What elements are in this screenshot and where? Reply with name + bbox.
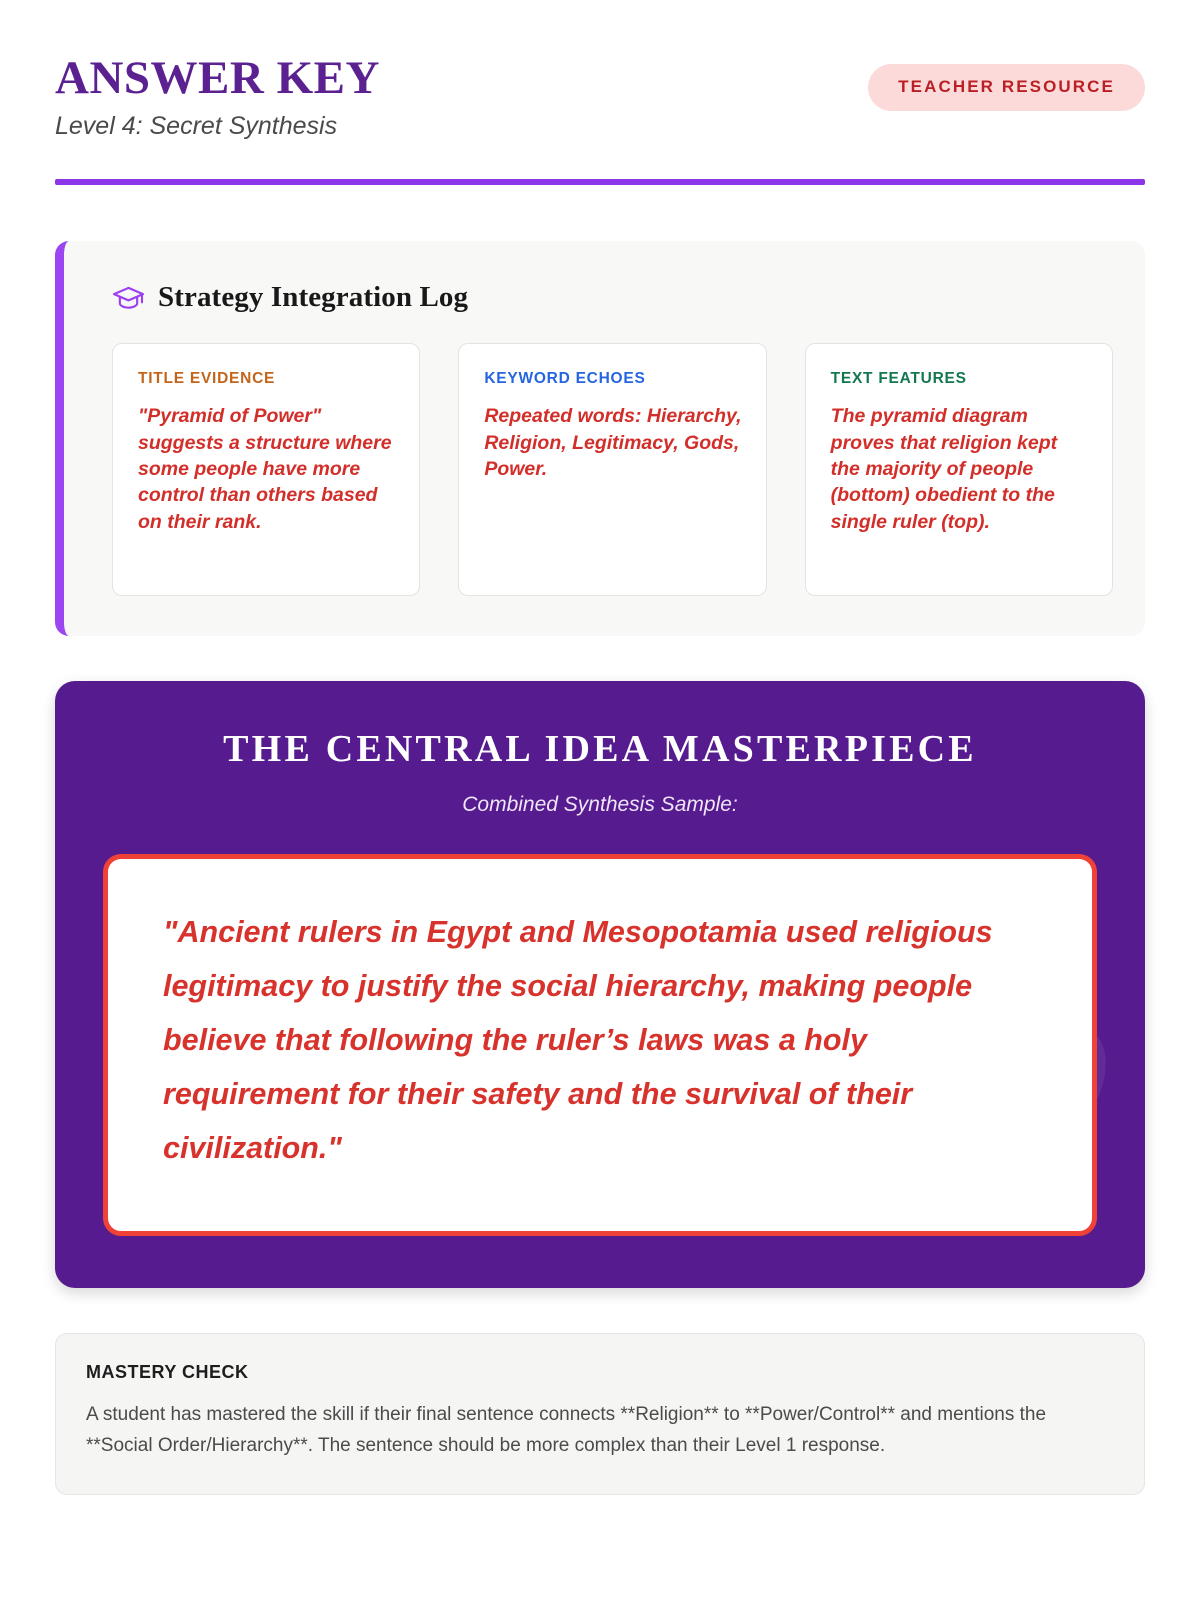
strategy-card: TEXT FEATURES The pyramid diagram proves…	[805, 343, 1113, 596]
header-divider	[55, 179, 1145, 185]
strategy-cards-grid: TITLE EVIDENCE "Pyramid of Power" sugges…	[112, 343, 1113, 596]
strategy-card-body: The pyramid diagram proves that religion…	[831, 403, 1090, 535]
strategy-card-body: Repeated words: Hierarchy, Religion, Leg…	[484, 403, 743, 482]
strategy-card: TITLE EVIDENCE "Pyramid of Power" sugges…	[112, 343, 420, 596]
strategy-card-body: "Pyramid of Power" suggests a structure …	[138, 403, 397, 535]
strategy-card-label: TITLE EVIDENCE	[138, 370, 397, 388]
mastery-check-body: A student has mastered the skill if thei…	[86, 1400, 1114, 1462]
synthesis-quote-text: "Ancient rulers in Egypt and Mesopotamia…	[163, 906, 1042, 1176]
mastery-check-title: MASTERY CHECK	[86, 1362, 1114, 1383]
teacher-resource-badge: TEACHER RESOURCE	[868, 64, 1145, 111]
strategy-panel-header: Strategy Integration Log	[112, 281, 1113, 314]
strategy-integration-log-panel: Strategy Integration Log TITLE EVIDENCE …	[55, 241, 1145, 636]
header-text-group: ANSWER KEY Level 4: Secret Synthesis	[55, 52, 380, 145]
masterpiece-title: THE CENTRAL IDEA MASTERPIECE	[103, 727, 1097, 771]
strategy-panel-title: Strategy Integration Log	[158, 281, 468, 314]
strategy-card-label: TEXT FEATURES	[831, 370, 1090, 388]
graduation-cap-icon	[112, 285, 145, 311]
central-idea-masterpiece-panel: ” THE CENTRAL IDEA MASTERPIECE Combined …	[55, 681, 1145, 1288]
masterpiece-subtitle: Combined Synthesis Sample:	[103, 793, 1097, 817]
strategy-card: KEYWORD ECHOES Repeated words: Hierarchy…	[458, 343, 766, 596]
strategy-card-label: KEYWORD ECHOES	[484, 370, 743, 388]
page-title: ANSWER KEY	[55, 54, 380, 104]
mastery-check-box: MASTERY CHECK A student has mastered the…	[55, 1333, 1145, 1495]
answer-key-page: ANSWER KEY Level 4: Secret Synthesis TEA…	[0, 0, 1200, 1600]
page-header: ANSWER KEY Level 4: Secret Synthesis TEA…	[55, 52, 1145, 145]
synthesis-quote-box: "Ancient rulers in Egypt and Mesopotamia…	[103, 854, 1097, 1236]
page-subtitle: Level 4: Secret Synthesis	[55, 108, 380, 146]
